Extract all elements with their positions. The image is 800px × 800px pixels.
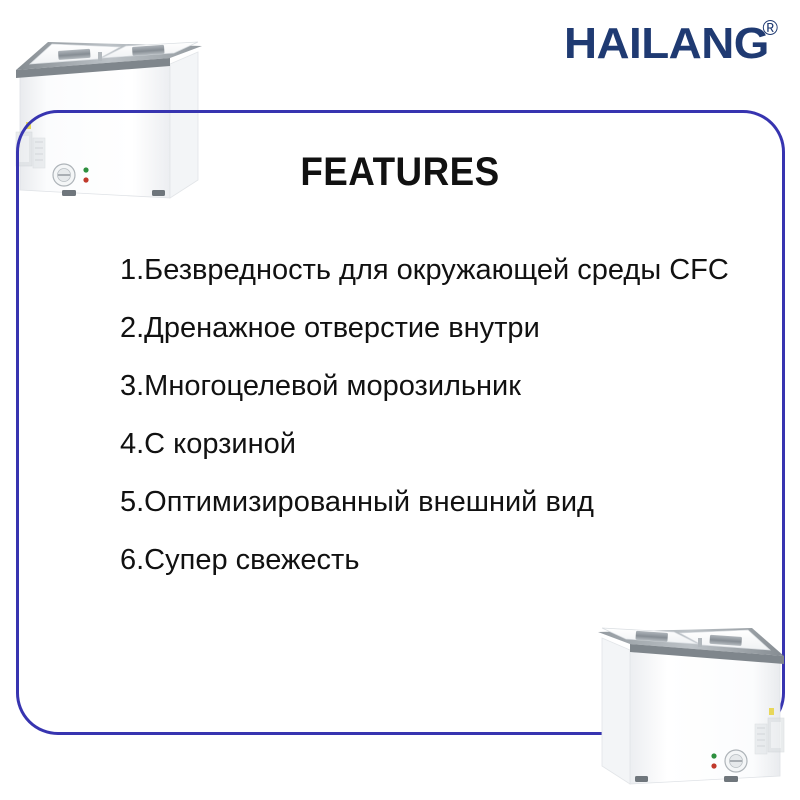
list-item: 4.С корзиной xyxy=(120,422,780,480)
product-image-chest-freezer-bottom-right xyxy=(578,598,798,798)
product-feature-banner: HAILANG ® FEATURES 1.Безвредность для ок… xyxy=(0,0,800,800)
foot-icon xyxy=(635,776,648,782)
chest-freezer-icon xyxy=(578,598,798,798)
feature-list: 1.Безвредность для окружающей среды CFC … xyxy=(120,248,780,596)
foot-icon xyxy=(724,776,738,782)
list-item: 2.Дренажное отверстие внутри xyxy=(120,306,780,364)
list-item: 1.Безвредность для окружающей среды CFC xyxy=(120,248,780,306)
list-item: 3.Многоцелевой морозильник xyxy=(120,364,780,422)
warning-label-icon xyxy=(769,708,774,715)
list-item: 5.Оптимизированный внешний вид xyxy=(120,480,780,538)
brand-logo: HAILANG ® xyxy=(564,22,778,66)
alarm-indicator-icon xyxy=(711,763,716,768)
brand-name: HAILANG xyxy=(564,22,769,66)
list-item: 6.Супер свежесть xyxy=(120,538,780,596)
page-title: FEATURES xyxy=(32,150,768,195)
power-indicator-icon xyxy=(711,753,716,758)
warning-label-icon xyxy=(26,122,31,129)
